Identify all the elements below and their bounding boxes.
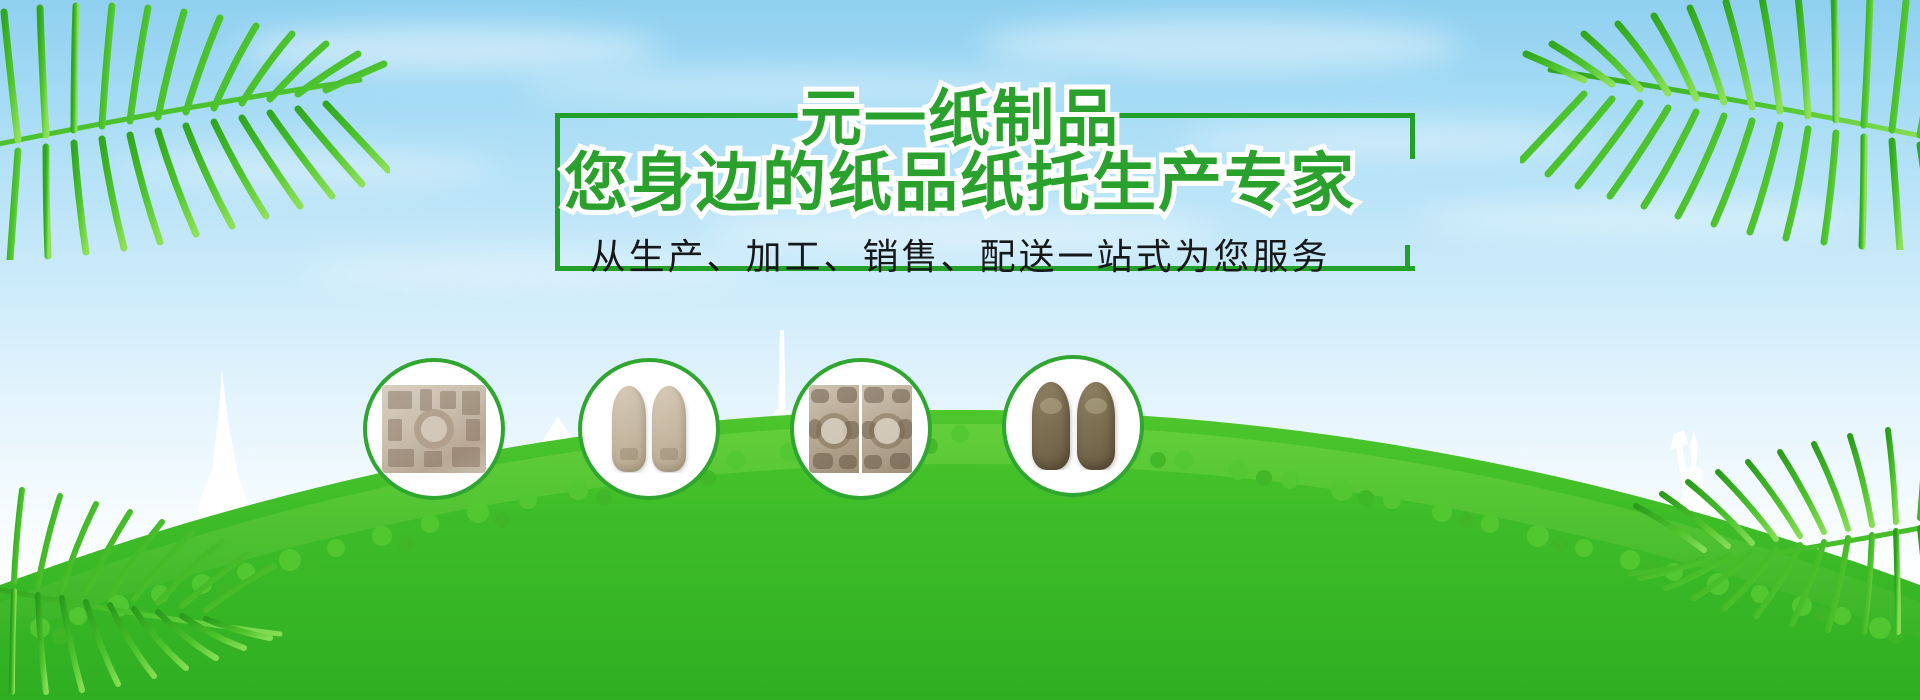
headline-block: 元一纸制品 您身边的纸品纸托生产专家 从生产、加工、销售、配送一站式为您服务 bbox=[0, 0, 1920, 340]
product-image-dark-shoe-forms bbox=[1021, 382, 1125, 470]
product-circle-molded-pulp-double-tray[interactable] bbox=[790, 358, 932, 500]
headline-text: 您身边的纸品纸托生产专家 bbox=[0, 152, 1920, 216]
insole-right bbox=[652, 386, 686, 472]
brand-title: 元一纸制品 bbox=[0, 88, 1920, 150]
promo-banner: 元一纸制品 您身边的纸品纸托生产专家 从生产、加工、销售、配送一站式为您服务 bbox=[0, 0, 1920, 700]
tray-half-right bbox=[862, 385, 912, 473]
product-image-insole-pair bbox=[597, 385, 701, 473]
palm-frond-bottom-left-icon bbox=[0, 470, 300, 700]
palm-frond-bottom-right-icon bbox=[1610, 410, 1920, 670]
shoe-form-left bbox=[1032, 382, 1070, 470]
product-circle-molded-pulp-dark-shoe-form[interactable] bbox=[1002, 355, 1144, 497]
tray-half-left bbox=[809, 385, 859, 473]
product-circle-molded-pulp-insole-pair[interactable] bbox=[578, 358, 720, 500]
subtitle-text: 从生产、加工、销售、配送一站式为您服务 bbox=[0, 238, 1920, 278]
product-image-double-tray bbox=[809, 385, 913, 473]
insole-left bbox=[612, 386, 646, 472]
shoe-form-right bbox=[1077, 382, 1115, 470]
product-circle-molded-pulp-square-tray[interactable] bbox=[363, 358, 505, 500]
product-image-square-tray bbox=[382, 385, 486, 473]
